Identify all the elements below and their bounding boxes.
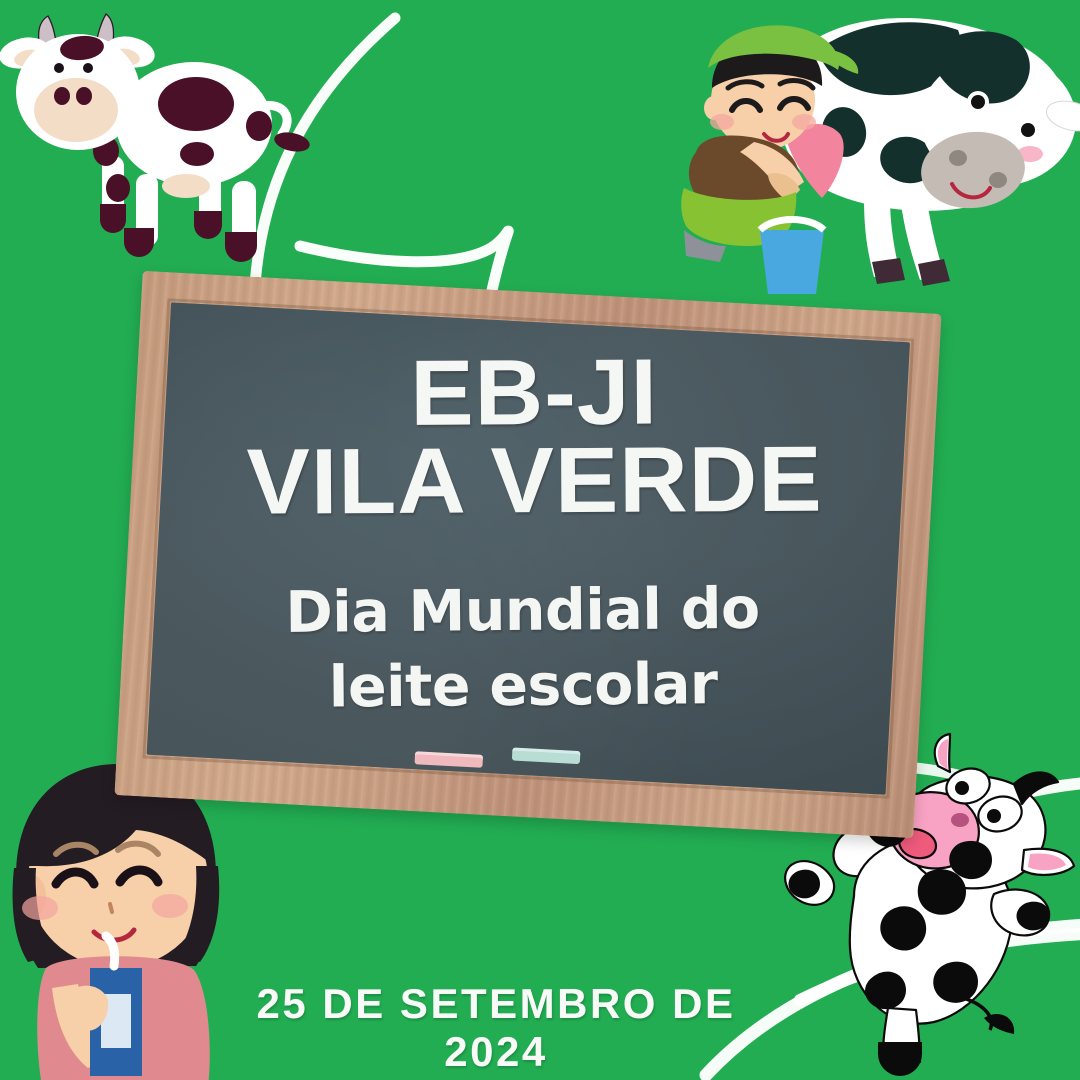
milk-bucket-icon: [760, 230, 824, 294]
boy-blush-right: [792, 114, 816, 130]
pink-chalk-piece: [414, 751, 483, 768]
cow-spot-5: [106, 174, 130, 202]
milk-cow-hoof-1: [872, 258, 905, 284]
girl-blush-right: [152, 894, 188, 918]
cow-muzzle: [34, 78, 118, 142]
funnycow-pupil-right: [987, 809, 1001, 823]
cow-nostril-right: [76, 87, 92, 105]
cow-hoof-3: [194, 211, 222, 239]
cow-hoof-4: [225, 232, 257, 262]
cow-eye-left-icon: [54, 63, 64, 73]
cow-hoof-1: [100, 204, 126, 233]
cow-nostril-left: [54, 87, 70, 105]
funnycow-horn-icon: [1014, 773, 1058, 805]
cow-hoof-2: [124, 228, 154, 257]
milk-cow-eye-right-icon: [1021, 123, 1035, 137]
funnycow-tail-tuft: [984, 1014, 1014, 1034]
cow-eye-right-icon: [83, 63, 93, 73]
event-title-line2: leite escolar: [153, 646, 894, 728]
poster-canvas: EB-JI VILA VERDE Dia Mundial do leite es…: [0, 0, 1080, 1080]
girl-drinking-milk-illustration: [0, 756, 244, 1080]
milk-carton-right-edge: [131, 968, 142, 1076]
cow-spot-large: [158, 77, 234, 131]
cow-spot-3: [246, 111, 272, 141]
boy-milking-cow-illustration: [668, 0, 1080, 307]
headline-block: EB-JI VILA VERDE: [164, 348, 905, 525]
subheadline-block: Dia Mundial do leite escolar: [152, 571, 893, 728]
teal-chalk-piece: [512, 747, 581, 764]
milk-cow-pupil-left: [971, 95, 985, 109]
event-date: 25 DE SETEMBRO DE 2024: [236, 980, 756, 1076]
cow-udder: [162, 174, 210, 198]
funnycow-pupil-left: [955, 781, 969, 795]
chalkboard: EB-JI VILA VERDE Dia Mundial do leite es…: [114, 271, 941, 838]
funnycow-hoof: [878, 1042, 922, 1076]
cow-standing-illustration: [0, 6, 314, 276]
funnycow-spot-7: [1017, 902, 1051, 931]
milk-cow-nostril-2: [989, 172, 1007, 188]
boy-blush-left: [710, 114, 734, 130]
girl-blush-left: [22, 896, 58, 920]
milk-cow-nostril-1: [949, 150, 967, 166]
event-title-line1: Dia Mundial do: [152, 571, 893, 653]
school-name-line1: EB-JI: [157, 348, 911, 437]
cow-spot-2: [180, 142, 214, 166]
funnycow-spot-3: [933, 962, 978, 1003]
girl-nose: [110, 904, 112, 912]
funnycow-spot-2: [918, 869, 966, 915]
school-name-line2: VILA VERDE: [157, 436, 910, 525]
chalkboard-surface: EB-JI VILA VERDE Dia Mundial do leite es…: [147, 302, 910, 794]
funnycow-nostril: [951, 813, 969, 827]
